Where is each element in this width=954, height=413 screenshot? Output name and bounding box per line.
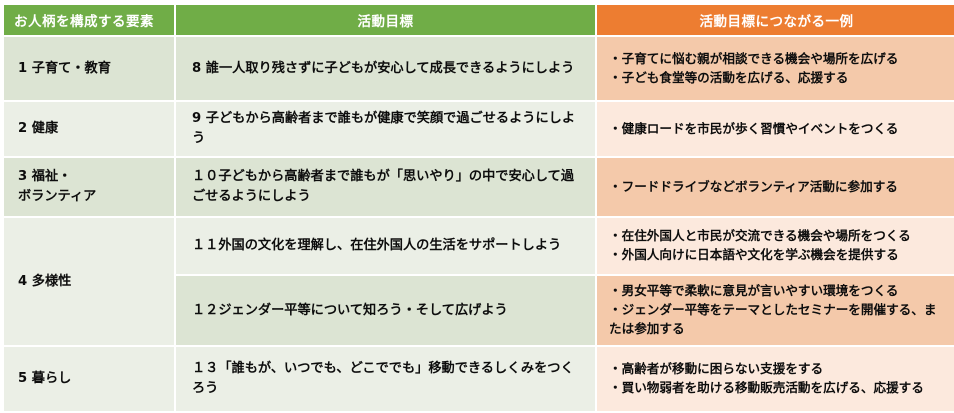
header-cell-goal: 活動目標 [176, 5, 595, 35]
header-row: お人柄を構成する要素 活動目標 活動目標につながる一例 [4, 5, 954, 35]
table-row: 2 健康 9 子どもから高齢者まで誰もが健康で笑顔で過ごせるようにしよう ・健康… [4, 102, 954, 156]
example-line: ・ジェンダー平等をテーマとしたセミナーを開催する、または参加する [609, 301, 944, 339]
example-line: ・子育てに悩む親が相談できる機会や場所を広げる [609, 50, 944, 69]
cell-element-2: 2 健康 [4, 102, 174, 156]
cell-element-3: 3 福祉・ ボランティア [4, 158, 174, 216]
header-cell-element: お人柄を構成する要素 [4, 5, 174, 35]
cell-example-6: ・高齢者が移動に困らない支援をする ・買い物弱者を助ける移動販売活動を広げる、応… [597, 347, 954, 411]
cell-example-2: ・健康ロードを市民が歩く習慣やイベントをつくる [597, 102, 954, 156]
cell-element-4-merged: 4 多様性 [4, 218, 174, 345]
cell-goal-5: １２ジェンダー平等について知ろう・そして広げよう [176, 276, 595, 345]
example-line: ・高齢者が移動に困らない支援をする [609, 360, 944, 379]
cell-example-1: ・子育てに悩む親が相談できる機会や場所を広げる ・子ども食堂等の活動を広げる、応… [597, 37, 954, 100]
header-cell-example: 活動目標につながる一例 [597, 5, 954, 35]
table-row: 5 暮らし １３「誰もが、いつでも、どこででも」移動できるしくみをつくろう ・高… [4, 347, 954, 411]
example-line: ・子ども食堂等の活動を広げる、応援する [609, 69, 944, 88]
cell-goal-4: １１外国の文化を理解し、在住外国人の生活をサポートしよう [176, 218, 595, 274]
table-row: 4 多様性 １１外国の文化を理解し、在住外国人の生活をサポートしよう ・在住外国… [4, 218, 954, 274]
activity-goals-table: お人柄を構成する要素 活動目標 活動目標につながる一例 1 子育て・教育 8 誰… [2, 3, 954, 413]
cell-element-5: 5 暮らし [4, 347, 174, 411]
cell-element-1: 1 子育て・教育 [4, 37, 174, 100]
example-line: ・健康ロードを市民が歩く習慣やイベントをつくる [609, 120, 944, 139]
cell-example-3: ・フードドライブなどボランティア活動に参加する [597, 158, 954, 216]
cell-goal-3: １０子どもから高齢者まで誰もが「思いやり」の中で安心して過ごせるようにしよう [176, 158, 595, 216]
table-row: 3 福祉・ ボランティア １０子どもから高齢者まで誰もが「思いやり」の中で安心し… [4, 158, 954, 216]
table-body: 1 子育て・教育 8 誰一人取り残さずに子どもが安心して成長できるようにしよう … [4, 37, 954, 411]
example-line: ・在住外国人と市民が交流できる機会や場所をつくる [609, 227, 944, 246]
example-line: ・外国人向けに日本語や文化を学ぶ機会を提供する [609, 246, 944, 265]
cell-goal-2: 9 子どもから高齢者まで誰もが健康で笑顔で過ごせるようにしよう [176, 102, 595, 156]
cell-goal-1: 8 誰一人取り残さずに子どもが安心して成長できるようにしよう [176, 37, 595, 100]
cell-example-4: ・在住外国人と市民が交流できる機会や場所をつくる ・外国人向けに日本語や文化を学… [597, 218, 954, 274]
example-line: ・フードドライブなどボランティア活動に参加する [609, 178, 944, 197]
example-line: ・買い物弱者を助ける移動販売活動を広げる、応援する [609, 379, 944, 398]
table-row: 1 子育て・教育 8 誰一人取り残さずに子どもが安心して成長できるようにしよう … [4, 37, 954, 100]
table-header: お人柄を構成する要素 活動目標 活動目標につながる一例 [4, 5, 954, 35]
example-line: ・男女平等で柔軟に意見が言いやすい環境をつくる [609, 282, 944, 301]
cell-goal-6: １３「誰もが、いつでも、どこででも」移動できるしくみをつくろう [176, 347, 595, 411]
goals-table-container: お人柄を構成する要素 活動目標 活動目標につながる一例 1 子育て・教育 8 誰… [0, 0, 954, 402]
cell-example-5: ・男女平等で柔軟に意見が言いやすい環境をつくる ・ジェンダー平等をテーマとしたセ… [597, 276, 954, 345]
